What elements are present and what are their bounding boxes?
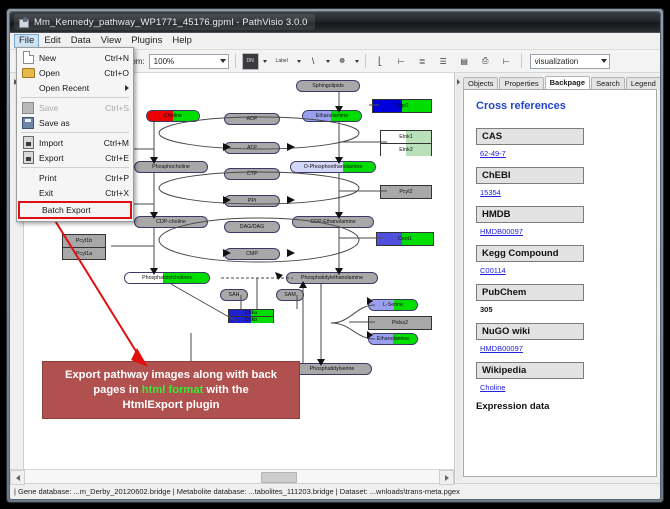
node-label: Sphingolipids <box>312 83 344 90</box>
toolbar-separator-3 <box>521 54 522 68</box>
node-label: CDP-choline <box>156 219 186 226</box>
tab-objects[interactable]: Objects <box>463 77 498 91</box>
xref-value-nugo[interactable]: HMDB00097 <box>480 344 644 353</box>
node-label: Chka <box>245 310 257 316</box>
pathway-node-metabolite[interactable]: Phosphatidylethanolamine <box>286 272 378 284</box>
menu-item-export-shortcut: Ctrl+E <box>105 153 129 163</box>
blank-icon <box>21 82 35 94</box>
pathway-node-metabolite[interactable]: Ethanolamine <box>368 333 418 345</box>
node-label: Pcyt2 <box>399 189 412 195</box>
xref-label-cas: CAS <box>476 128 584 145</box>
node-label: L-Serine <box>383 302 403 309</box>
pathway-node-metabolite[interactable]: PPi <box>224 195 280 207</box>
pathway-node-metabolite[interactable]: Choline <box>146 110 200 122</box>
xref-link-hmdb[interactable]: HMDB00097 <box>480 227 523 236</box>
xref-value-kegg[interactable]: C00114 <box>480 266 644 275</box>
menu-item-save-shortcut: Ctrl+S <box>105 103 129 113</box>
xref-value-cas[interactable]: 62-49-7 <box>480 149 644 158</box>
side-panel-tabs: Objects Properties Backpage Search Legen… <box>463 76 657 90</box>
scroll-right-button[interactable] <box>439 470 454 485</box>
align-center-tool-icon[interactable]: ≣ <box>414 53 431 70</box>
menu-item-save-as[interactable]: Save as <box>17 115 133 130</box>
pathway-node-gene[interactable]: Pcyt1bPcyt1a <box>62 234 106 260</box>
blank-icon-3 <box>21 187 35 199</box>
backpage-content: Cross references CAS 62-49-7 ChEBI 15354… <box>463 89 657 477</box>
pathway-node-gene[interactable]: ChkaChkb <box>228 309 274 323</box>
callout-highlight: html format <box>142 384 204 396</box>
chevron-down-icon-2 <box>601 59 607 63</box>
export-icon <box>21 152 35 164</box>
xref-value-pubchem: 305 <box>480 305 644 314</box>
menu-item-import[interactable]: Import Ctrl+M <box>17 135 133 150</box>
side-panel: Objects Properties Backpage Search Legen… <box>455 73 660 483</box>
hscroll-track[interactable] <box>25 470 439 483</box>
node-label: CMP <box>246 251 258 258</box>
toolbar-separator-2 <box>365 54 366 68</box>
canvas-hscrollbar[interactable] <box>10 469 454 483</box>
group-tool-icon[interactable]: ▤ <box>456 53 473 70</box>
menu-separator-2 <box>21 132 129 133</box>
node-label: Pcyt1a <box>76 251 92 257</box>
pathway-node-metabolite[interactable]: SAM <box>276 289 304 301</box>
zoom-value: 100% <box>154 57 174 66</box>
menu-item-print-shortcut: Ctrl+P <box>105 173 129 183</box>
xref-link-kegg[interactable]: C00114 <box>480 266 506 275</box>
pathway-node-metabolite[interactable]: L-Serine <box>368 299 418 311</box>
pathway-node-metabolite[interactable]: CMP <box>224 248 280 260</box>
node-label: O-Phosphoethanolamine <box>304 164 363 171</box>
pathway-node-gene[interactable]: Sgpl1 <box>372 99 432 113</box>
node-label: PPi <box>248 198 256 205</box>
label-dropdown-icon[interactable] <box>297 60 301 63</box>
node-label: CDP-Ethanolamine <box>310 219 355 226</box>
menu-separator-1 <box>21 97 129 98</box>
visualization-combobox[interactable]: visualization <box>530 54 610 69</box>
cross-references-title: Cross references <box>476 100 644 112</box>
print-tool-icon[interactable]: ⎙ <box>477 53 494 70</box>
submenu-arrow-icon <box>125 85 129 91</box>
pathway-node-metabolite[interactable]: ATP <box>224 142 280 154</box>
xref-label-hmdb: HMDB <box>476 206 584 223</box>
menu-item-exit-label: Exit <box>39 188 105 198</box>
xref-label-kegg: Kegg Compound <box>476 245 584 262</box>
menu-item-open-recent[interactable]: Open Recent <box>17 80 133 95</box>
node-label: Phosphocholine <box>152 164 190 171</box>
node-label: Phosphatidylcholines <box>142 275 192 282</box>
import-icon <box>21 137 35 149</box>
status-bar: | Gene database: ...m_Derby_20120602.bri… <box>10 483 660 499</box>
pathway-node-metabolite[interactable]: CTP <box>224 168 280 180</box>
panel-collapse-grip[interactable] <box>456 75 462 481</box>
callout-line-3: HtmlExport plugin <box>123 399 220 411</box>
menu-item-import-shortcut: Ctrl+M <box>104 138 129 148</box>
pathway-node-metabolite[interactable]: SAH <box>220 289 248 301</box>
node-label: Etnk2 <box>399 147 413 153</box>
pathway-node-metabolite[interactable]: Sphingolipids <box>296 80 360 92</box>
label-tool-icon[interactable]: Label <box>271 53 293 70</box>
xref-link-cas[interactable]: 62-49-7 <box>480 149 506 158</box>
menu-item-batch-export-label: Batch Export <box>42 205 126 215</box>
menu-view[interactable]: View <box>96 34 126 48</box>
menu-separator-3 <box>21 167 129 168</box>
xref-value-wikipedia[interactable]: Choline <box>480 383 644 392</box>
tab-backpage[interactable]: Backpage <box>545 76 590 91</box>
window-title: Mm_Kennedy_pathway_WP1771_45176.gpml - P… <box>34 17 308 28</box>
node-label: ATP <box>247 145 257 152</box>
node-label: Ethanolamine <box>377 336 409 343</box>
menu-item-new-shortcut: Ctrl+N <box>105 53 129 63</box>
node-label: Pcyt1b <box>76 238 92 244</box>
visualization-value: visualization <box>535 57 579 66</box>
callout-line-1: Export pathway images along with back <box>65 369 277 381</box>
expression-data-heading: Expression data <box>476 401 644 412</box>
menu-item-batch-export[interactable]: Batch Export <box>18 201 132 219</box>
pathvisio-window: Mm_Kennedy_pathway_WP1771_45176.gpml - P… <box>9 11 661 500</box>
node-label: Phosphatidylserine <box>310 366 355 373</box>
receptor-tool-icon[interactable]: ☸ <box>334 53 351 70</box>
chevron-down-icon <box>220 59 226 63</box>
menu-item-print-label: Print <box>39 173 105 183</box>
menu-item-export[interactable]: Export Ctrl+E <box>17 150 133 165</box>
pathway-node-metabolite[interactable]: ADP <box>224 113 280 125</box>
blank-icon-2 <box>21 172 35 184</box>
blank-icon-4 <box>24 204 38 216</box>
menu-item-save: Save Ctrl+S <box>17 100 133 115</box>
ungroup-tool-icon[interactable]: ⊢ <box>498 53 515 70</box>
menu-item-open-label: Open <box>39 68 104 78</box>
hscroll-thumb[interactable] <box>261 472 297 483</box>
xref-value-hmdb[interactable]: HMDB00097 <box>480 227 644 236</box>
menu-item-open-recent-label: Open Recent <box>39 83 125 93</box>
menu-item-exit[interactable]: Exit Ctrl+X <box>17 185 133 200</box>
node-label: Choline <box>164 113 182 120</box>
file-menu-dropdown[interactable]: New Ctrl+N Open Ctrl+O Open Recent Save … <box>16 47 134 222</box>
menu-help[interactable]: Help <box>167 34 197 48</box>
node-label: SAH <box>229 292 240 299</box>
pathway-node-metabolite[interactable]: DAG/DAG <box>224 221 280 233</box>
node-label: CTP <box>247 171 258 178</box>
scroll-left-button[interactable] <box>10 470 25 485</box>
xref-label-wikipedia: Wikipedia <box>476 362 584 379</box>
annotation-callout: Export pathway images along with back pa… <box>42 361 300 419</box>
receptor-dropdown-icon[interactable] <box>355 60 359 63</box>
align-left-tool-icon[interactable]: ⊢ <box>393 53 410 70</box>
xref-label-nugo: NuGO wiki <box>476 323 584 340</box>
app-icon <box>18 17 29 28</box>
menu-file[interactable]: File <box>14 34 39 48</box>
menu-data[interactable]: Data <box>66 34 96 48</box>
node-label: Phosphatidylethanolamine <box>301 275 363 282</box>
pathway-node-metabolite[interactable]: O-Phosphoethanolamine <box>290 161 376 173</box>
datanode-tool-icon[interactable]: DN <box>242 53 259 70</box>
anchor-tool-icon[interactable]: ⎣ <box>372 53 389 70</box>
datanode-dropdown-icon[interactable] <box>263 60 267 63</box>
menu-item-save-as-label: Save as <box>39 118 129 128</box>
xref-label-chebi: ChEBI <box>476 167 584 184</box>
xref-value-chebi[interactable]: 15354 <box>480 188 644 197</box>
menu-item-print[interactable]: Print Ctrl+P <box>17 170 133 185</box>
pathway-node-metabolite[interactable]: CDP-choline <box>134 216 208 228</box>
menu-edit[interactable]: Edit <box>39 34 65 48</box>
xref-link-nugo[interactable]: HMDB00097 <box>480 344 523 353</box>
menu-item-import-label: Import <box>39 138 104 148</box>
pathway-node-gene[interactable]: Ptdss2 <box>368 316 432 330</box>
collapse-arrow-icon[interactable] <box>457 79 460 85</box>
node-label: Ptdss2 <box>392 320 408 326</box>
pathway-node-metabolite[interactable]: Phosphocholine <box>134 161 208 173</box>
node-label: Ethanolamine <box>316 113 348 120</box>
title-bar: Mm_Kennedy_pathway_WP1771_45176.gpml - P… <box>10 12 660 33</box>
new-document-icon <box>21 52 35 64</box>
menu-item-new-label: New <box>39 53 105 63</box>
pathway-node-metabolite[interactable]: CDP-Ethanolamine <box>292 216 374 228</box>
menu-item-open-shortcut: Ctrl+O <box>104 68 129 78</box>
pathway-node-gene[interactable]: Pcyt2 <box>380 185 432 199</box>
zoom-combobox[interactable]: 100% <box>149 54 229 69</box>
save-icon <box>21 102 35 114</box>
line-tool-icon[interactable]: \ <box>305 53 322 70</box>
pathway-node-metabolite[interactable]: Phosphatidylserine <box>292 363 372 375</box>
save-as-icon <box>21 117 35 129</box>
pathway-node-metabolite[interactable]: Ethanolamine <box>302 110 362 122</box>
stack-vertical-tool-icon[interactable]: ☰ <box>435 53 452 70</box>
line-dropdown-icon[interactable] <box>326 60 330 63</box>
menu-item-new[interactable]: New Ctrl+N <box>17 50 133 65</box>
toolbar-separator <box>235 54 236 68</box>
pathway-node-metabolite[interactable]: Phosphatidylcholines <box>124 272 210 284</box>
pathway-node-gene[interactable]: Cept1 <box>376 232 434 246</box>
node-label: Chkb <box>245 317 257 323</box>
screenshot-root: Mm_Kennedy_pathway_WP1771_45176.gpml - P… <box>0 0 670 509</box>
callout-line-2-a: pages in <box>93 384 142 396</box>
node-label: Cept1 <box>398 236 412 242</box>
tab-properties[interactable]: Properties <box>499 77 543 91</box>
pathway-node-gene[interactable]: Etnk1Etnk2 <box>380 130 432 156</box>
node-label: Etnk1 <box>399 134 413 140</box>
menu-item-exit-shortcut: Ctrl+X <box>105 188 129 198</box>
menu-item-save-label: Save <box>39 103 105 113</box>
menu-item-open[interactable]: Open Ctrl+O <box>17 65 133 80</box>
open-folder-icon <box>21 67 35 79</box>
tab-search[interactable]: Search <box>591 77 625 91</box>
menu-item-export-label: Export <box>39 153 105 163</box>
node-label: DAG/DAG <box>240 224 264 231</box>
node-label: Sgpl1 <box>395 103 409 109</box>
xref-label-pubchem: PubChem <box>476 284 584 301</box>
callout-line-2-b: with the <box>203 384 248 396</box>
xref-link-chebi[interactable]: 15354 <box>480 188 501 197</box>
node-label: ADP <box>247 116 258 123</box>
xref-link-wikipedia[interactable]: Choline <box>480 383 505 392</box>
status-text: | Gene database: ...m_Derby_20120602.bri… <box>14 487 460 496</box>
node-label: SAM <box>284 292 295 299</box>
menu-plugins[interactable]: Plugins <box>126 34 167 48</box>
tab-legend[interactable]: Legend <box>626 77 661 91</box>
